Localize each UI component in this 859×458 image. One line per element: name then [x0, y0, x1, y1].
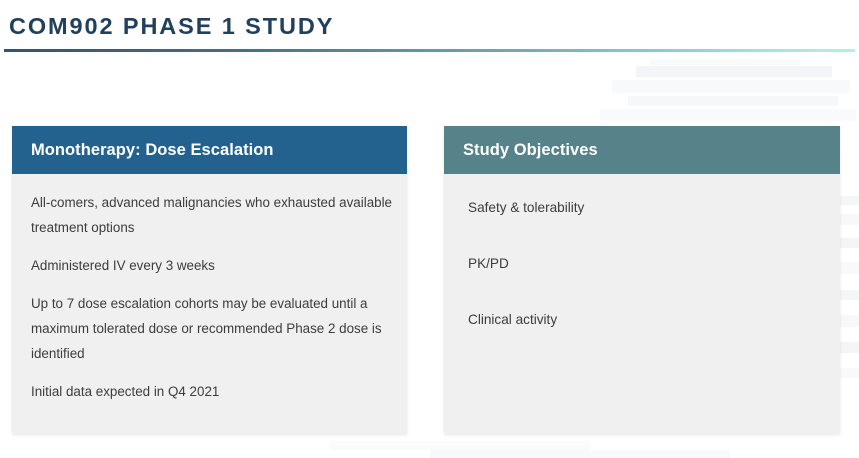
watermark-band	[600, 109, 856, 121]
bullet-item: Administered IV every 3 weeks	[31, 253, 393, 278]
card-body-monotherapy: All-comers, advanced malignancies who ex…	[12, 174, 407, 404]
bullet-item: Clinical activity	[468, 307, 826, 332]
card-study-objectives: Study Objectives Safety & tolerability P…	[444, 126, 840, 434]
watermark-band	[430, 450, 730, 458]
card-header-title: Monotherapy: Dose Escalation	[31, 141, 274, 160]
bullet-item: Up to 7 dose escalation cohorts may be e…	[31, 291, 393, 366]
watermark-band	[330, 441, 590, 450]
watermark-band	[628, 96, 838, 106]
watermark-band	[636, 66, 832, 77]
card-header-title: Study Objectives	[463, 141, 598, 160]
bullet-item: PK/PD	[468, 251, 826, 276]
bullet-item: All-comers, advanced malignancies who ex…	[31, 190, 393, 240]
slide: COM902 PHASE 1 STUDY Monotherapy: Dose E…	[0, 0, 859, 458]
card-header-study-objectives: Study Objectives	[444, 126, 840, 174]
watermark-band	[650, 59, 800, 65]
bullet-item: Initial data expected in Q4 2021	[31, 379, 393, 404]
card-header-monotherapy: Monotherapy: Dose Escalation	[12, 126, 407, 174]
card-monotherapy-dose-escalation: Monotherapy: Dose Escalation All-comers,…	[12, 126, 407, 434]
bullet-item: Safety & tolerability	[468, 195, 826, 220]
watermark-band	[612, 80, 850, 93]
title-underline-rule	[4, 49, 855, 52]
card-body-study-objectives: Safety & tolerability PK/PD Clinical act…	[444, 174, 840, 332]
slide-title: COM902 PHASE 1 STUDY	[9, 13, 334, 40]
